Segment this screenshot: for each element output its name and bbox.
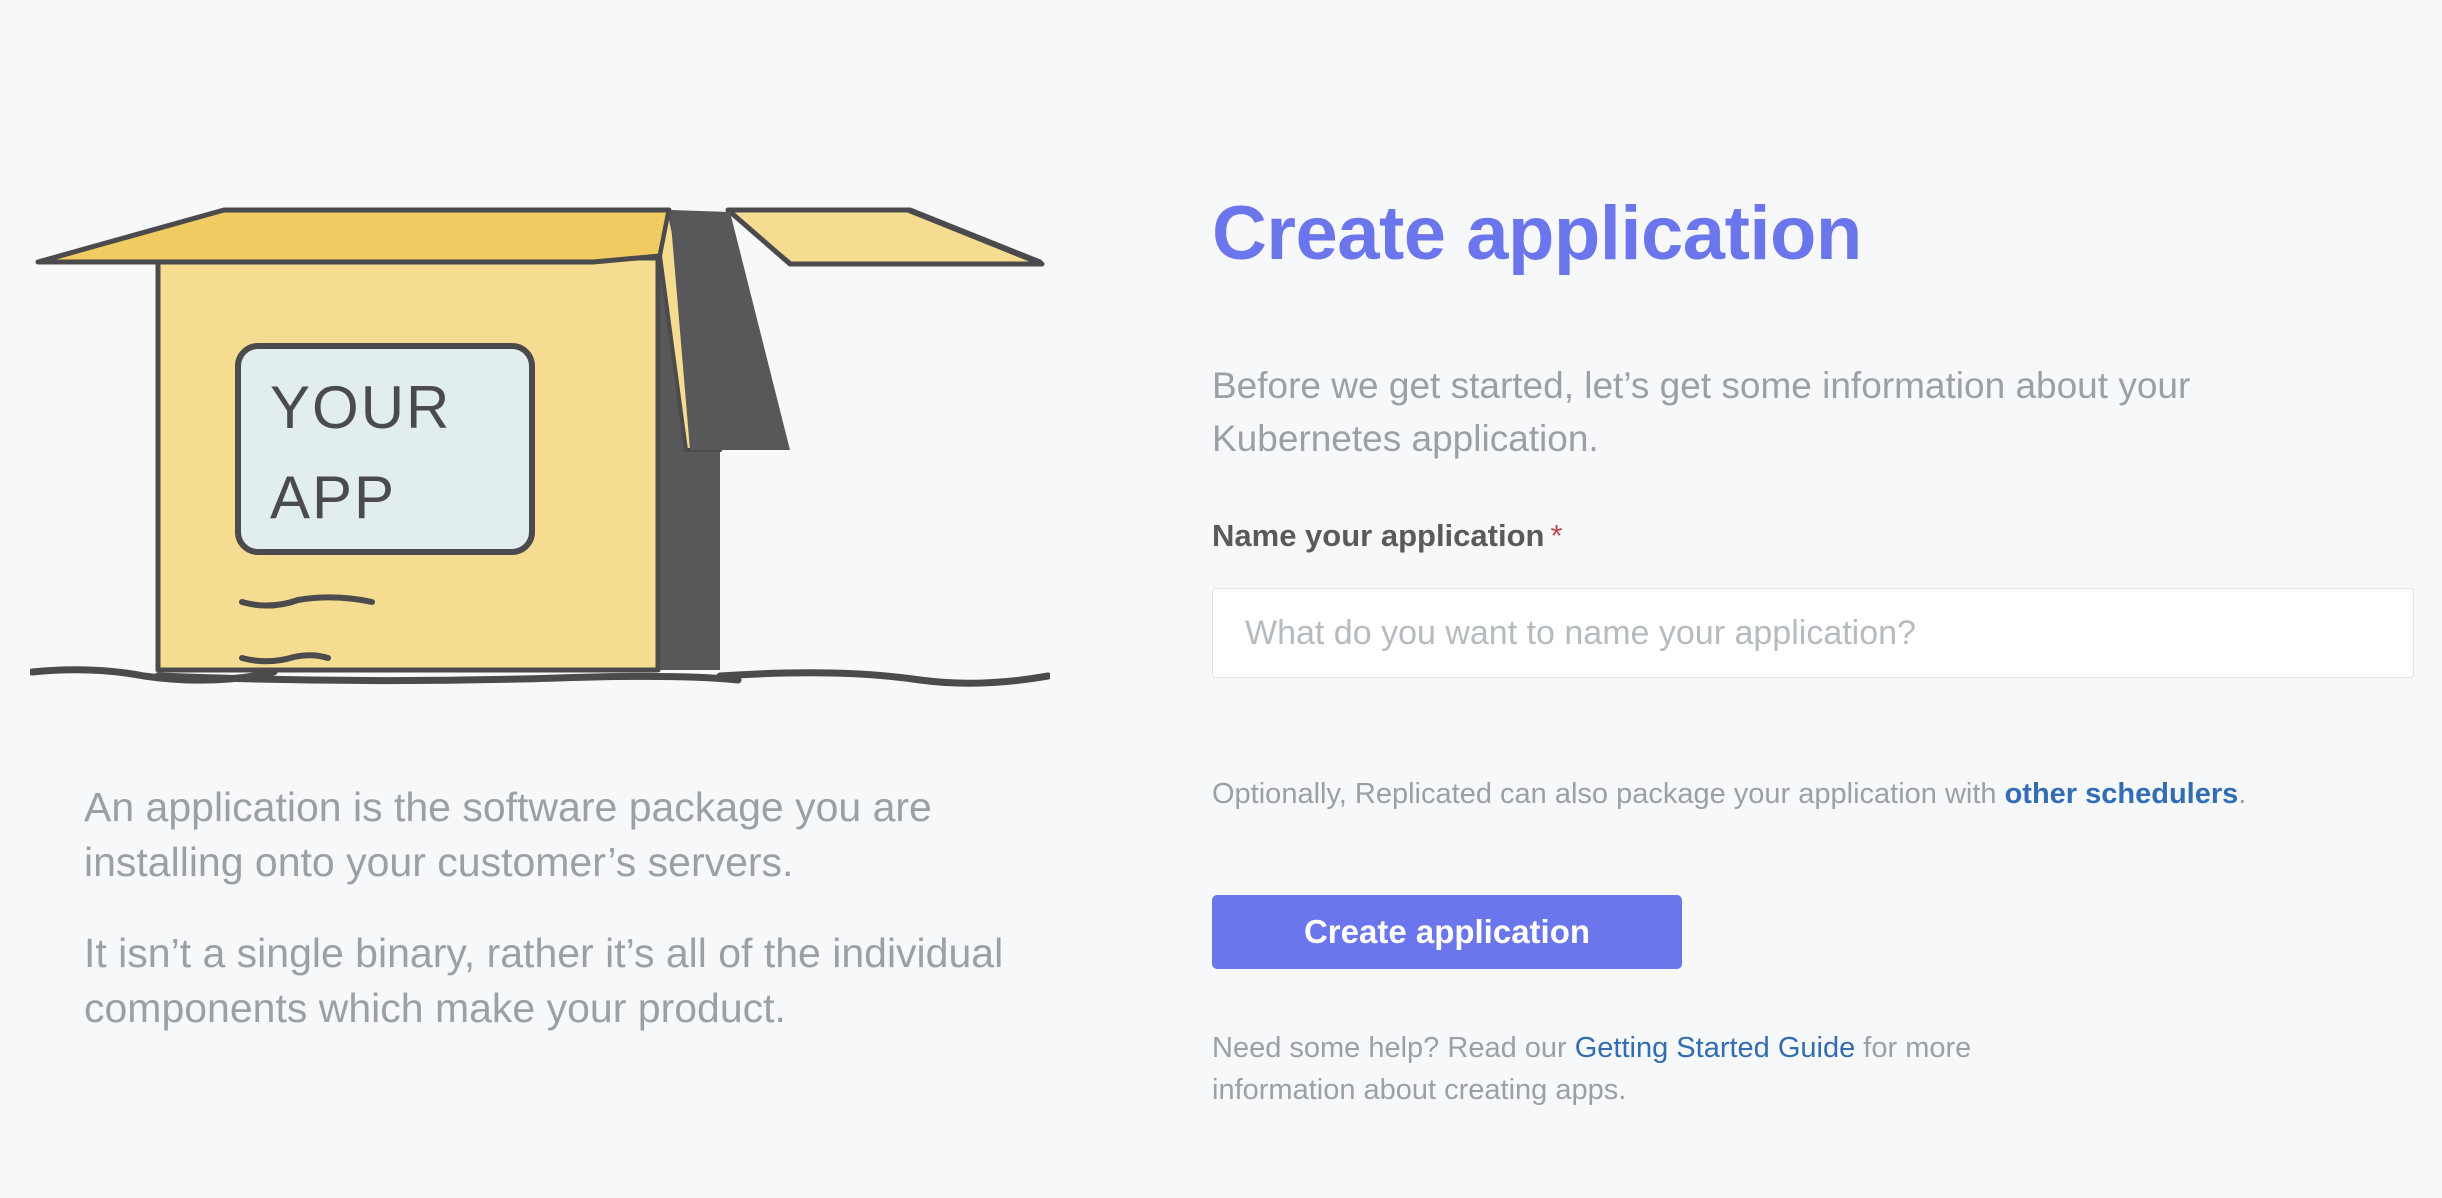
getting-started-guide-link[interactable]: Getting Started Guide (1575, 1032, 1856, 1064)
create-application-button[interactable]: Create application (1212, 895, 1682, 969)
other-schedulers-note-prefix: Optionally, Replicated can also package … (1212, 778, 2005, 810)
left-info-column: YOUR APP An application is the software … (0, 0, 1140, 1198)
required-asterisk: * (1550, 518, 1562, 553)
create-application-form: Create application Before we get started… (1212, 0, 2352, 1198)
other-schedulers-link[interactable]: other schedulers (2005, 778, 2239, 810)
cardboard-box-illustration: YOUR APP (30, 150, 1050, 740)
other-schedulers-note-suffix: . (2238, 778, 2246, 810)
left-description: An application is the software package y… (84, 780, 1034, 1036)
form-subtitle: Before we get started, let’s get some in… (1212, 360, 2342, 465)
other-schedulers-note: Optionally, Replicated can also package … (1212, 778, 2246, 811)
name-field-label: Name your application* (1212, 518, 1563, 554)
label-line-1: YOUR (270, 374, 451, 441)
help-note-prefix: Need some help? Read our (1212, 1032, 1575, 1064)
help-note: Need some help? Read our Getting Started… (1212, 1028, 2112, 1112)
label-line-2: APP (270, 464, 396, 531)
create-application-page: YOUR APP An application is the software … (0, 0, 2442, 1198)
description-paragraph-2: It isn’t a single binary, rather it’s al… (84, 926, 1034, 1036)
name-field-label-text: Name your application (1212, 518, 1544, 553)
application-name-input[interactable] (1212, 588, 2414, 678)
page-title: Create application (1212, 196, 1862, 272)
description-paragraph-1: An application is the software package y… (84, 780, 1034, 890)
